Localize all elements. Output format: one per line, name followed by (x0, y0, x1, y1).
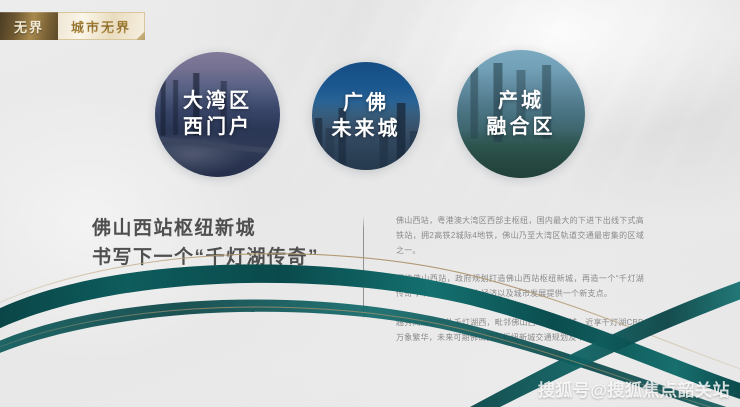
feature-circle-line1: 产城 (498, 90, 544, 113)
feature-circle-line2: 融合区 (487, 116, 556, 139)
feature-circle-chancheng: 产城 融合区 (457, 50, 585, 178)
body-paragraph-1: 佛山西站，粤港澳大湾区西部主枢纽，国内最大的下进下出线下式高铁站，拥2高铁2城际… (396, 214, 644, 258)
headline-line2: 书写下一个“千灯湖传奇” (92, 243, 319, 272)
brand-tag-dark: 无界 (0, 12, 58, 40)
brand-tag-dark-label: 无界 (14, 17, 44, 36)
page-fold-icon (136, 31, 145, 40)
body-paragraph-3: 越秀阅湖台地处千灯湖西，毗邻佛山西站枢纽新城，近享千灯湖CBD万象繁华，未来可期… (396, 316, 644, 346)
brand-tag-light: 城市无界 (58, 12, 145, 40)
body-copy: 佛山西站，粤港澳大湾区西部主枢纽，国内最大的下进下出线下式高铁站，拥2高铁2城际… (396, 214, 644, 346)
feature-circle-caption: 广佛 未来城 (312, 62, 420, 170)
brand-tag: 无界 城市无界 (0, 12, 145, 40)
feature-circle-line1: 广佛 (343, 92, 389, 115)
feature-circle-dawan: 大湾区 西门户 (155, 52, 280, 177)
headline-block: 佛山西站枢纽新城 书写下一个“千灯湖传奇” (92, 214, 319, 273)
feature-circle-guangfo: 广佛 未来城 (312, 62, 420, 170)
brand-tag-light-label: 城市无界 (71, 17, 131, 36)
feature-circle-caption: 大湾区 西门户 (155, 52, 280, 177)
feature-circle-caption: 产城 融合区 (457, 50, 585, 178)
feature-circle-line1: 大湾区 (183, 90, 252, 113)
slide-canvas: 无界 城市无界 大湾区 西门户 广佛 未来城 产城 融合区 佛山西站枢纽新城 (0, 0, 740, 407)
body-paragraph-2: 围绕佛山西站，政府规划打造佛山西站枢纽新城，再造一个“千灯湖传奇”，为南海乃至佛… (396, 272, 644, 302)
headline-line1: 佛山西站枢纽新城 (92, 214, 319, 243)
watermark-text: 搜狐号@搜狐焦点韶关站 (538, 376, 730, 401)
feature-circle-line2: 未来城 (332, 118, 401, 141)
feature-circle-line2: 西门户 (183, 116, 252, 139)
vertical-divider (363, 216, 364, 320)
